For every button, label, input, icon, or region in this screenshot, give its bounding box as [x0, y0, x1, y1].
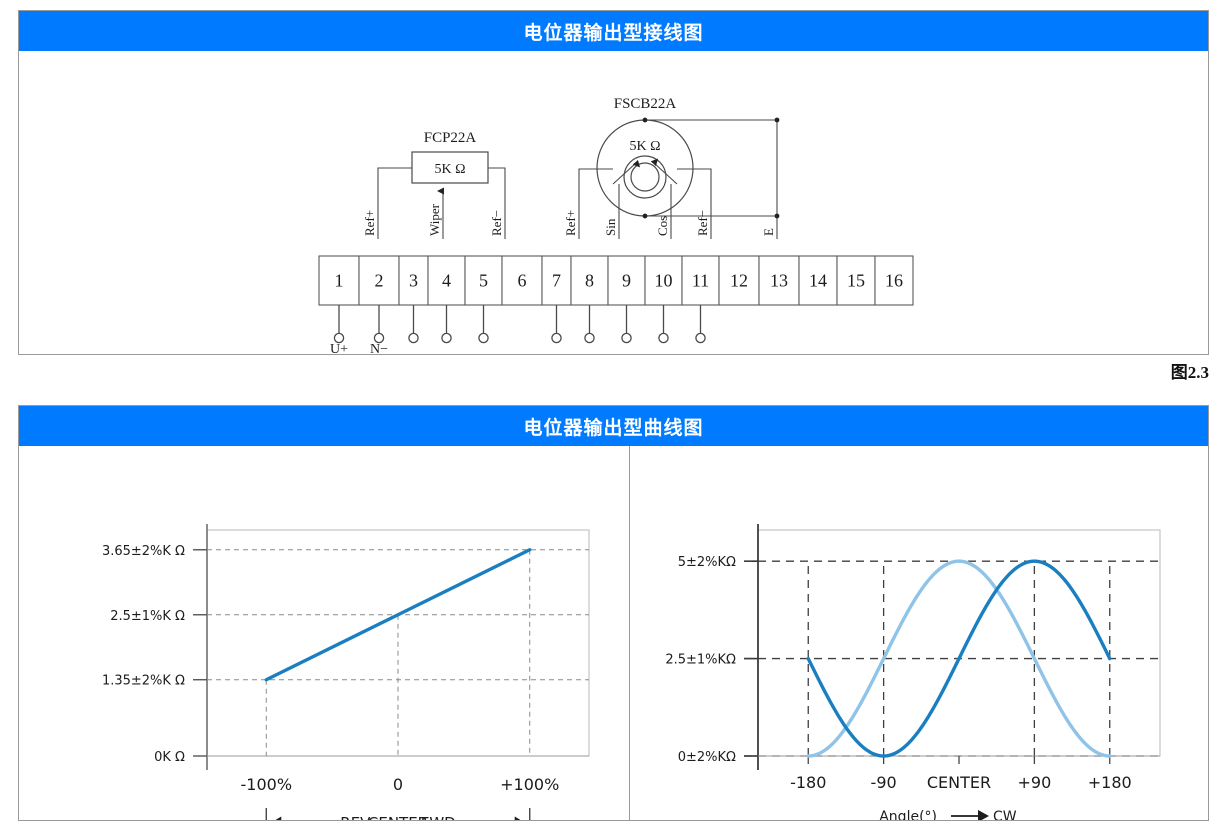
signal-label-ref-minus-2: Ref− — [695, 210, 710, 236]
direction-arrow-head — [272, 817, 281, 821]
figure-number: 图2.3 — [1171, 358, 1209, 383]
terminal-drop-wires: U+N− — [330, 305, 705, 353]
terminal-pin — [585, 333, 594, 342]
signal-label-ref-plus-1: Ref+ — [362, 210, 377, 236]
terminal-number: 8 — [585, 271, 594, 291]
terminal-number: 13 — [770, 271, 788, 291]
x-axis-tick-label: +180 — [1088, 773, 1132, 792]
wiring-diagram-panel: 电位器输出型接线图 — [18, 10, 1209, 355]
cos-output-curve — [809, 561, 1111, 756]
terminal-bottom-label: U+ — [330, 342, 348, 353]
wiring-panel-body: FCP22A 5K Ω FSCB22A 5K Ω Ref+ Wiper Ref−… — [19, 51, 1208, 354]
terminal-block: 12345678910111213141516 — [319, 256, 913, 305]
terminal-pin — [622, 333, 631, 342]
terminal-number: 11 — [692, 271, 709, 291]
y-axis-tick-label: 0K Ω — [154, 750, 185, 765]
terminal-number: 5 — [479, 271, 488, 291]
y-axis-tick-label: 0±2%KΩ — [678, 750, 736, 765]
terminal-number: 2 — [375, 271, 384, 291]
y-axis-tick-label: 1.35±2%K Ω — [102, 674, 185, 689]
signal-label-ref-minus-1: Ref− — [489, 210, 504, 236]
y-axis-tick-label: 2.5±1%K Ω — [110, 609, 185, 624]
wiring-schematic: FCP22A 5K Ω FSCB22A 5K Ω Ref+ Wiper Ref−… — [19, 51, 1208, 353]
terminal-pin — [696, 333, 705, 342]
terminal-number: 12 — [730, 271, 748, 291]
terminal-number: 15 — [847, 271, 865, 291]
x-axis-tick-label: CENTER — [927, 773, 991, 792]
signal-label-sin: Sin — [603, 218, 618, 236]
wiring-panel-title: 电位器输出型接线图 — [19, 11, 1208, 51]
terminal-pin — [659, 333, 668, 342]
terminal-pin — [442, 333, 451, 342]
terminal-pin — [479, 333, 488, 342]
annotation-fwd: FWD — [421, 814, 456, 820]
annotation-cw: CW — [993, 809, 1017, 820]
terminal-pin — [409, 333, 418, 342]
terminal-number: 6 — [518, 271, 527, 291]
x-axis-tick-label: +100% — [500, 775, 559, 794]
direction-arrow-head — [515, 817, 524, 821]
signal-label-ref-plus-2: Ref+ — [563, 210, 578, 236]
terminal-number: 16 — [885, 271, 903, 291]
signal-label-e: E — [761, 228, 776, 236]
terminal-bottom-label: N− — [370, 342, 388, 353]
terminal-number: 4 — [442, 271, 451, 291]
signal-label-wiper: Wiper — [427, 203, 442, 236]
annotation-rev: REV — [340, 814, 371, 820]
y-axis-tick-label: 5±2%KΩ — [678, 555, 736, 570]
direction-arrow-head — [978, 810, 989, 820]
x-axis-tick-label: -100% — [241, 775, 293, 794]
curves-panel-title: 电位器输出型曲线图 — [19, 406, 1208, 446]
x-axis-tick-label: +90 — [1018, 773, 1052, 792]
component-value-fscb22a: 5K Ω — [629, 139, 660, 154]
y-axis-tick-label: 2.5±1%KΩ — [666, 653, 737, 668]
terminal-number: 10 — [655, 271, 673, 291]
annotation-center: CENTER — [368, 814, 428, 820]
curves-panel: 电位器输出型曲线图 3.65±2%K Ω2.5±1%K Ω1.35±2%K Ω0… — [18, 405, 1209, 821]
x-axis-label: Angle(°) — [880, 809, 938, 820]
plot-frame — [758, 530, 1160, 756]
component-value-fcp22a: 5K Ω — [434, 162, 465, 177]
signal-label-cos: Cos — [655, 216, 670, 236]
terminal-pin — [552, 333, 561, 342]
terminal-number: 3 — [409, 271, 418, 291]
x-axis-tick-label: -90 — [871, 773, 897, 792]
curves-panel-body: 3.65±2%K Ω2.5±1%K Ω1.35±2%K Ω0K Ω-100%0+… — [19, 446, 1208, 820]
component-label-fcp22a: FCP22A — [424, 130, 477, 146]
terminal-number: 9 — [622, 271, 631, 291]
x-axis-tick-label: 0 — [393, 775, 403, 794]
y-axis-tick-label: 3.65±2%K Ω — [102, 544, 185, 559]
page-root: 电位器输出型接线图 — [0, 0, 1227, 831]
sin-cos-output-chart: 5±2%KΩ2.5±1%KΩ0±2%KΩ-180-90CENTER+90+180… — [630, 446, 1208, 820]
terminal-number: 14 — [809, 271, 827, 291]
component-label-fscb22a: FSCB22A — [614, 96, 677, 112]
linear-output-chart: 3.65±2%K Ω2.5±1%K Ω1.35±2%K Ω0K Ω-100%0+… — [19, 446, 630, 820]
x-axis-tick-label: -180 — [791, 773, 827, 792]
terminal-number: 1 — [335, 271, 344, 291]
terminal-number: 7 — [552, 271, 561, 291]
